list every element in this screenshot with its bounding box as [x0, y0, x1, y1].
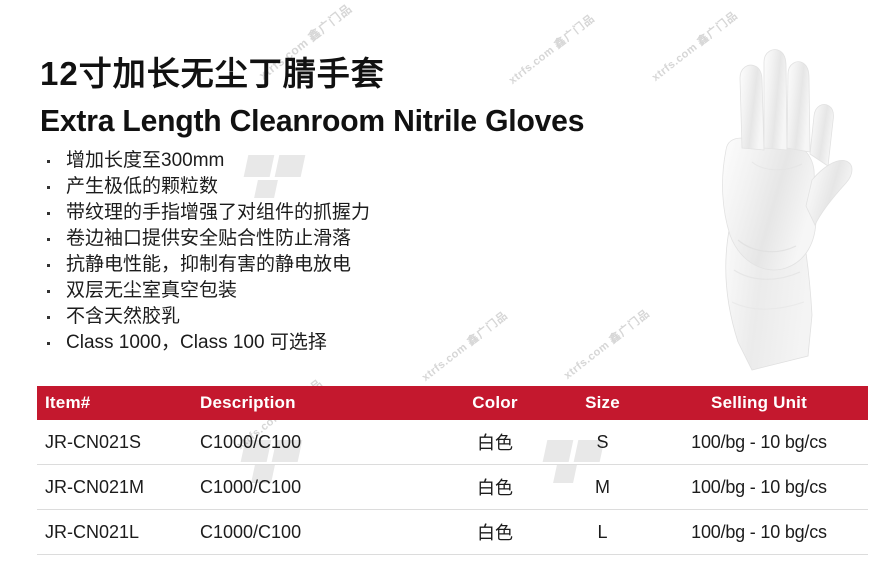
- glove-finger-ring: [787, 62, 810, 152]
- cell-selling-unit: 100/bg - 10 bg/cs: [650, 420, 868, 465]
- list-item: 带纹理的手指增强了对组件的抓握力: [42, 200, 370, 226]
- cell-description: C1000/C100: [200, 510, 435, 555]
- feature-list: 增加长度至300mm 产生极低的颗粒数 带纹理的手指增强了对组件的抓握力 卷边袖…: [42, 148, 370, 356]
- table-row: JR-CN021S C1000/C100 白色 S 100/bg - 10 bg…: [37, 420, 868, 465]
- watermark-text: xtrfs.com 鑫广门品: [418, 307, 511, 385]
- page-title-chinese: 12寸加长无尘丁腈手套: [40, 47, 385, 95]
- cell-description: C1000/C100: [200, 465, 435, 510]
- watermark-text: xtrfs.com 鑫广门品: [560, 305, 653, 383]
- cell-color: 白色: [435, 420, 555, 465]
- watermark-text: xtrfs.com 鑫广门品: [505, 10, 598, 88]
- list-item: 卷边袖口提供安全贴合性防止滑落: [42, 226, 370, 252]
- cell-selling-unit: 100/bg - 10 bg/cs: [650, 510, 868, 555]
- cell-selling-unit: 100/bg - 10 bg/cs: [650, 465, 868, 510]
- cell-color: 白色: [435, 510, 555, 555]
- cell-size: L: [555, 510, 650, 555]
- column-header-item: Item#: [37, 386, 200, 420]
- glove-finger-index: [740, 65, 764, 150]
- column-header-color: Color: [435, 386, 555, 420]
- watermark-text-cn: 鑫广门品: [465, 309, 510, 348]
- cell-size: S: [555, 420, 650, 465]
- cell-item: JR-CN021M: [37, 465, 200, 510]
- table-header: Item# Description Color Size Selling Uni…: [37, 386, 868, 420]
- table-body: JR-CN021S C1000/C100 白色 S 100/bg - 10 bg…: [37, 420, 868, 555]
- cell-color: 白色: [435, 465, 555, 510]
- list-item: 产生极低的颗粒数: [42, 174, 370, 200]
- watermark-text-en: xtrfs.com: [562, 339, 612, 382]
- list-item: 不含天然胶乳: [42, 304, 370, 330]
- list-item: Class 1000，Class 100 可选择: [42, 330, 370, 356]
- cell-description: C1000/C100: [200, 420, 435, 465]
- cell-item: JR-CN021L: [37, 510, 200, 555]
- watermark-text-en: xtrfs.com: [420, 341, 470, 384]
- glove-finger-middle: [764, 50, 787, 150]
- glove-finger-little: [810, 104, 834, 166]
- list-item: 抗静电性能，抑制有害的静电放电: [42, 252, 370, 278]
- cell-item: JR-CN021S: [37, 420, 200, 465]
- table-row: JR-CN021M C1000/C100 白色 M 100/bg - 10 bg…: [37, 465, 868, 510]
- page-title-english: Extra Length Cleanroom Nitrile Gloves: [40, 103, 584, 139]
- list-item: 增加长度至300mm: [42, 148, 370, 174]
- watermark-text-cn: 鑫广门品: [607, 307, 652, 346]
- watermark-text-en: xtrfs.com: [507, 44, 557, 87]
- product-photo-glove: [660, 30, 890, 375]
- specification-table: Item# Description Color Size Selling Uni…: [37, 386, 868, 555]
- column-header-size: Size: [555, 386, 650, 420]
- table-header-row: Item# Description Color Size Selling Uni…: [37, 386, 868, 420]
- column-header-selling-unit: Selling Unit: [650, 386, 868, 420]
- watermark-text-cn: 鑫广门品: [552, 12, 597, 51]
- cell-size: M: [555, 465, 650, 510]
- column-header-description: Description: [200, 386, 435, 420]
- table-row: JR-CN021L C1000/C100 白色 L 100/bg - 10 bg…: [37, 510, 868, 555]
- list-item: 双层无尘室真空包装: [42, 278, 370, 304]
- watermark-text-cn: 鑫广门品: [305, 1, 355, 44]
